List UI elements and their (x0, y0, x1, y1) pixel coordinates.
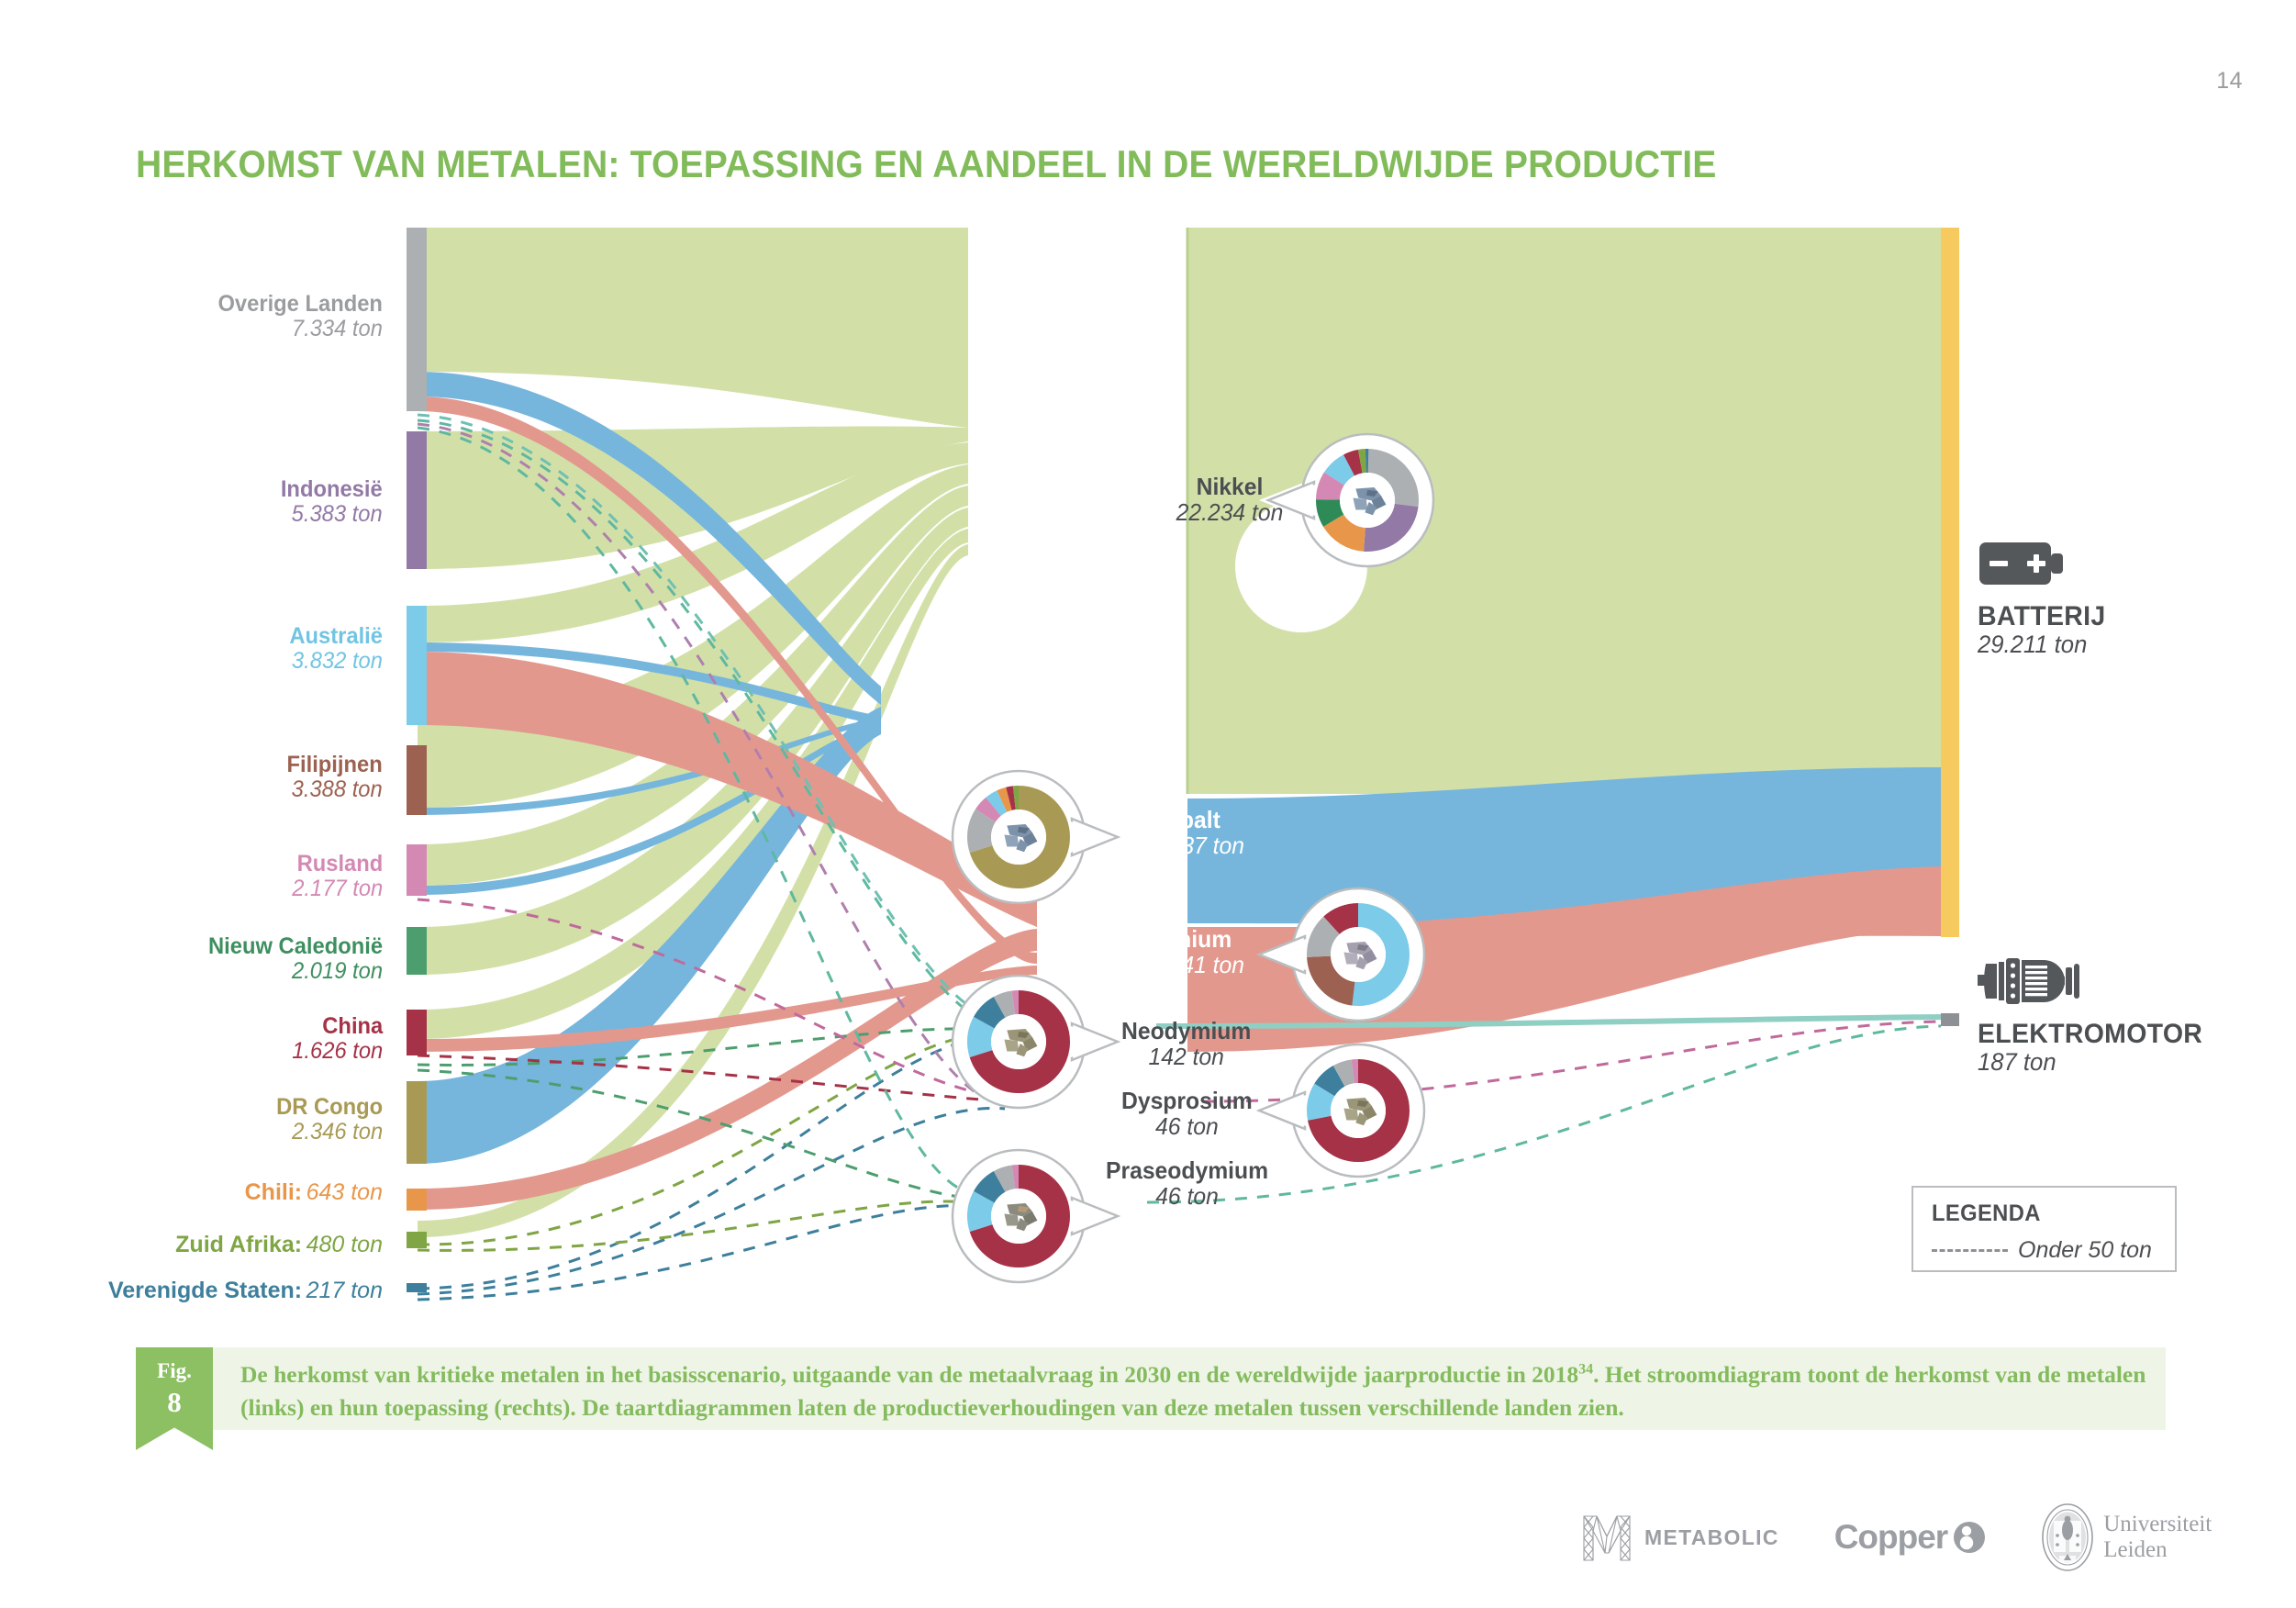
node-bar-overige-landen (407, 228, 427, 411)
destination-batterij: BATTERIJ 29.211 ton (1978, 537, 2112, 658)
source-label-verenigde-staten: Verenigde Staten: 217 ton (108, 1279, 383, 1303)
source-label-china: China 1.626 ton (287, 1014, 383, 1063)
copper8-mark-icon (1953, 1519, 1986, 1556)
leiden-seal-icon (2041, 1502, 2094, 1572)
metal-label-lithium: Lithium 3.441 ton (1150, 927, 1249, 978)
logo-universiteit-leiden: Universiteit Leiden (2041, 1502, 2212, 1572)
logo-copper8: Copper (1834, 1518, 1987, 1557)
caption-footnote-ref: 34 (1578, 1362, 1593, 1378)
legend-item-label: Onder 50 ton (2018, 1237, 2152, 1264)
source-label-indonesie: Indonesië 5.383 ton (275, 477, 383, 526)
node-bar-filipijnen (407, 745, 427, 815)
metabolic-mark-icon (1578, 1509, 1635, 1566)
metal-label-neodymium: Neodymium 142 ton (1121, 1019, 1258, 1070)
footer-logos: METABOLIC Copper Universiteit L (1578, 1496, 2184, 1579)
figure-tag: Fig. 8 (136, 1347, 213, 1450)
node-bar-nieuw-caledonie (407, 927, 427, 975)
source-node-bars (407, 228, 427, 1292)
node-bar-rusland (407, 844, 427, 896)
leiden-wordmark: Universiteit Leiden (2103, 1512, 2212, 1563)
source-label-rusland: Rusland 2.177 ton (287, 852, 383, 900)
node-bar-zuid-afrika (407, 1232, 427, 1248)
source-label-australie: Australië 3.832 ton (284, 624, 383, 673)
source-label-nieuw-caledonie: Nieuw Caledonië 2.019 ton (199, 934, 383, 983)
node-bar-chili (407, 1189, 427, 1211)
legend-title: LEGENDA (1932, 1200, 2041, 1227)
node-bar-china (407, 1010, 427, 1055)
dashed-line-swatch (1932, 1249, 2008, 1252)
leiden-line1: Universiteit (2103, 1512, 2212, 1536)
figure-word: Fig. (136, 1359, 213, 1383)
metal-label-praseodymium: Praseodymium 46 ton (1106, 1158, 1276, 1210)
donut-kobalt (953, 771, 1118, 903)
node-bar-verenigde-staten (407, 1283, 427, 1292)
caption-line1-a: De herkomst van kritieke metalen in het … (240, 1361, 1578, 1388)
source-label-filipijnen: Filipijnen 3.388 ton (282, 753, 383, 801)
source-label-dr-congo: DR Congo 2.346 ton (271, 1095, 383, 1144)
source-label-overige-landen: Overige Landen 7.334 ton (209, 292, 383, 341)
copper8-wordmark: Copper (1834, 1518, 1948, 1557)
metabolic-wordmark: METABOLIC (1644, 1525, 1779, 1550)
destination-elektromotor: ELEKTROMOTOR 187 ton (1978, 955, 2214, 1076)
leiden-line2: Leiden (2103, 1537, 2167, 1562)
metal-label-dysprosium: Dysprosium 46 ton (1121, 1089, 1259, 1140)
source-label-zuid-afrika: Zuid Afrika: 480 ton (175, 1233, 383, 1257)
legend-row: Onder 50 ton (1932, 1237, 2152, 1264)
node-bar-australie (407, 606, 427, 725)
metal-label-nikkel: Nikkel 22.234 ton (1142, 475, 1317, 526)
battery-icon (1978, 537, 2065, 590)
electric-motor-icon (1978, 955, 2088, 1008)
figure-number: 8 (136, 1386, 213, 1419)
node-bar-indonesie (407, 431, 427, 569)
logo-metabolic: METABOLIC (1578, 1509, 1779, 1566)
donut-neodymium (953, 976, 1118, 1108)
legend-box: LEGENDA Onder 50 ton (1911, 1186, 2177, 1272)
node-bar-elektromotor (1941, 1013, 1959, 1026)
donut-praseodymium (953, 1150, 1118, 1282)
node-bar-batterij (1941, 228, 1959, 937)
node-bar-dr-congo (407, 1081, 427, 1164)
caption-line1-b: . Het stroomdiagram toont de (1593, 1361, 1889, 1388)
donut-dysprosium (1259, 1044, 1424, 1177)
figure-caption: De herkomst van kritieke metalen in het … (240, 1358, 2149, 1425)
metal-label-kobalt: Kobalt 3.537 ton (1150, 808, 1249, 859)
source-label-chili: Chili: 643 ton (245, 1180, 383, 1205)
